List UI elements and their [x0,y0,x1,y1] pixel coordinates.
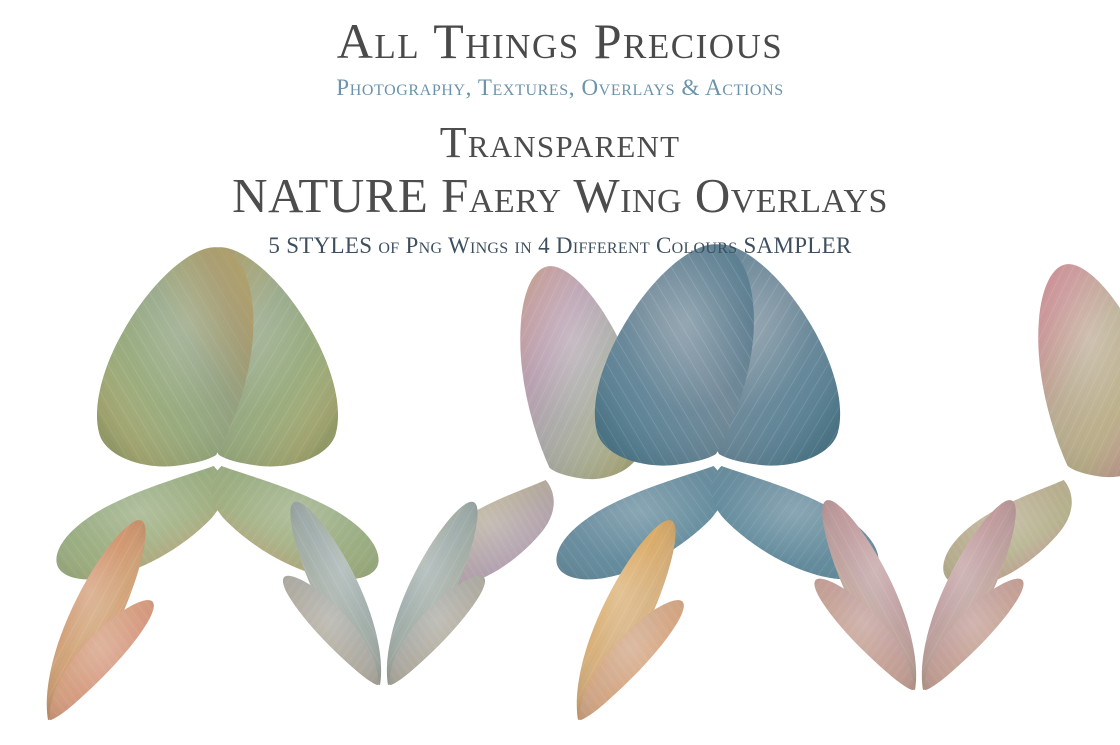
product-line-1: Transparent [0,121,1120,165]
product-line-2: NATURE Faery Wing Overlays [0,171,1120,220]
wing-group-rose-pair [814,500,1023,690]
wing-upper-left-pink [1038,264,1120,477]
wing-gallery-canvas [0,258,1120,745]
wing-group-green-pair [56,247,378,579]
promo-graphic: All Things Precious Photography, Texture… [0,0,1120,745]
product-caption: 5 STYLES of Png Wings in 4 Different Col… [0,234,1120,257]
wing-gallery [0,258,1120,745]
brand-subtitle: Photography, Textures, Overlays & Action… [0,76,1120,99]
header-text-block: All Things Precious Photography, Texture… [0,0,1120,257]
wing-group-rainbow-pair [283,502,485,685]
wing-group-pink-half [943,264,1120,586]
brand-title: All Things Precious [0,0,1120,66]
